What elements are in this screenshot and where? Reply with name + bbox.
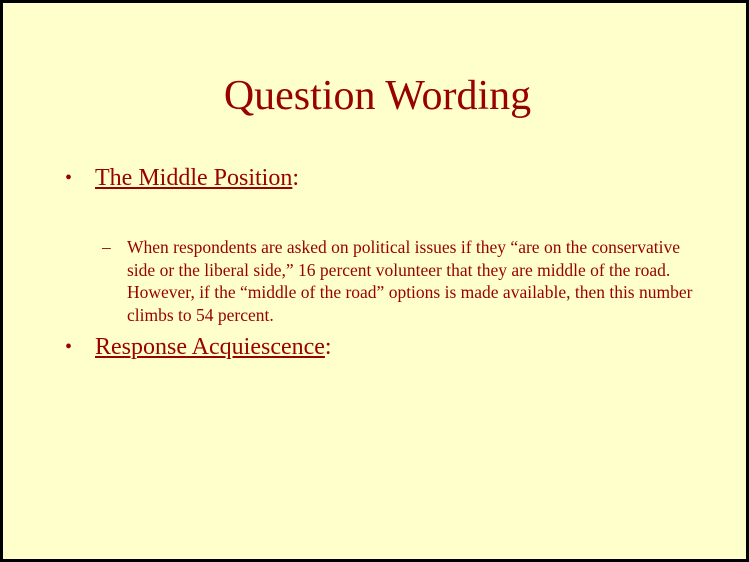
bullet-item-middle-position: •The Middle Position:	[3, 163, 749, 193]
bullet-item-response-acquiescence: •Response Acquiescence:	[3, 332, 749, 362]
sub-bullet-text: When respondents are asked on political …	[127, 236, 702, 326]
page-title: Question Wording	[3, 71, 749, 121]
bullet-heading-middle-position: The Middle Position	[95, 165, 292, 191]
bullet-heading-response-acquiescence: Response Acquiescence	[95, 334, 325, 360]
slide-body: •The Middle Position: –When respondents …	[3, 163, 749, 362]
dash-marker-icon: –	[102, 236, 111, 259]
sub-bullet-item-middle-position-detail: –When respondents are asked on political…	[3, 236, 749, 326]
spacer	[3, 193, 749, 236]
bullet-marker-icon: •	[65, 332, 72, 362]
bullet-heading-colon: :	[292, 165, 299, 191]
bullet-marker-icon: •	[65, 163, 72, 193]
bullet-heading-colon: :	[325, 334, 332, 360]
slide: Question Wording •The Middle Position: –…	[0, 0, 749, 562]
